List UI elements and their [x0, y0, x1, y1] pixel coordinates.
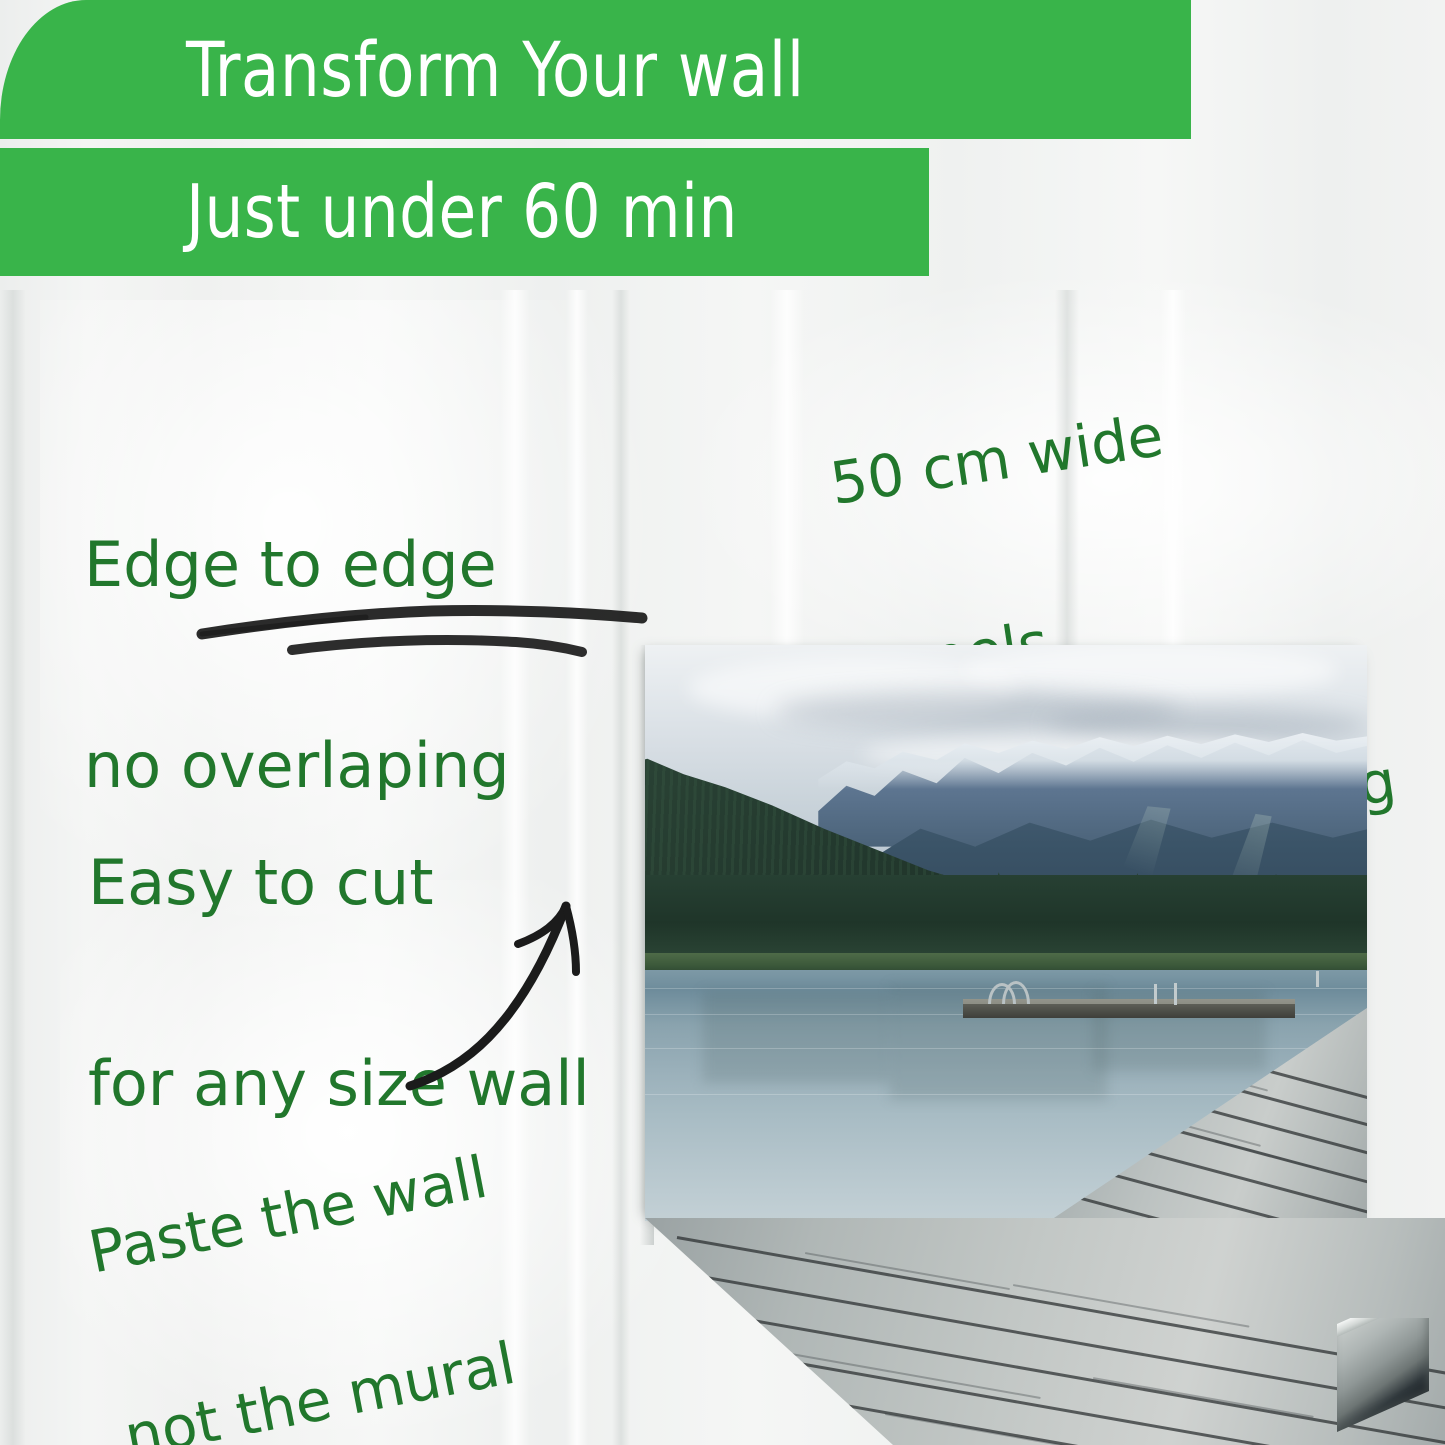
- headline-banner: Transform Your wall: [0, 0, 1191, 139]
- shoreline: [645, 953, 1367, 971]
- wood-grain: [1013, 1284, 1250, 1328]
- mural-photo: [645, 645, 1367, 1221]
- time-banner-text: Just under 60 min: [186, 172, 738, 252]
- headline-banner-text: Transform Your wall: [186, 29, 805, 111]
- background-crease: [770, 290, 804, 650]
- dock-post: [1316, 971, 1319, 987]
- cloud: [963, 645, 1338, 697]
- dock-post: [1154, 984, 1157, 1004]
- mural-scene: [645, 645, 1367, 1221]
- wood-grain: [805, 1252, 1010, 1290]
- water-reflection: [703, 991, 891, 1083]
- promo-image: Transform Your wall Just under 60 min Ed…: [0, 0, 1445, 1445]
- wood-grain: [1093, 1377, 1314, 1418]
- underline-scribble-icon: [196, 588, 648, 680]
- wallpaper-curl: [1337, 1318, 1445, 1445]
- time-banner: Just under 60 min: [0, 148, 929, 276]
- dock-post: [1174, 983, 1177, 1005]
- note-paste-line-1: Paste the wall: [84, 1146, 492, 1285]
- note-paste-line-2: not the mural: [120, 1330, 528, 1445]
- note-panels-line-1: 50 cm wide: [827, 378, 1345, 516]
- treeline: [645, 875, 1367, 961]
- background-shade: [612, 290, 630, 1445]
- curl-underside: [1337, 1318, 1429, 1432]
- background-shade: [0, 290, 26, 1445]
